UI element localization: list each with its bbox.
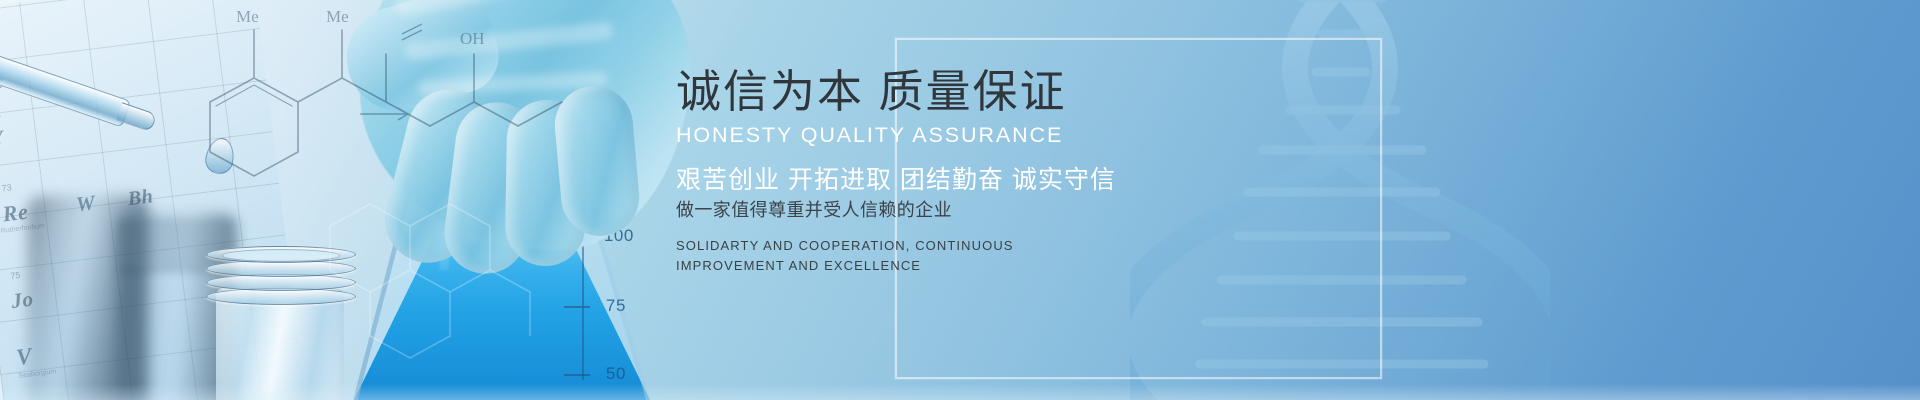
reaction-arrow-icon — [360, 108, 408, 120]
headline-english: HONESTY QUALITY ASSURANCE — [676, 123, 1436, 148]
hexagon-pattern-overlay — [290, 176, 610, 400]
molecule-label-oh: OH — [460, 29, 485, 48]
element-number: 73 — [1, 182, 12, 193]
slogan-english: SOLIDARTY AND COOPERATION, CONTINUOUS IM… — [676, 236, 1076, 276]
element-number: 75 — [10, 270, 21, 281]
element-symbol: Re — [1, 199, 29, 228]
slogan-sub-chinese: 做一家值得尊重并受人信赖的企业 — [676, 200, 1436, 222]
molecule-label-me: Me — [236, 7, 259, 26]
molecule-label-me: Me — [326, 7, 349, 26]
hero-copy-block: 诚信为本 质量保证 HONESTY QUALITY ASSURANCE 艰苦创业… — [676, 66, 1436, 276]
slogan-chinese: 艰苦创业 开拓进取 团结勤奋 诚实守信 — [676, 165, 1436, 195]
element-symbol: Y — [0, 127, 5, 150]
bottom-light-strip — [0, 384, 1920, 400]
lab-hero-banner: Sc 21 Y 23 Re 73 Rutherfordium W Bh Jo 7… — [0, 0, 1920, 400]
headline-chinese: 诚信为本 质量保证 — [676, 66, 1436, 118]
